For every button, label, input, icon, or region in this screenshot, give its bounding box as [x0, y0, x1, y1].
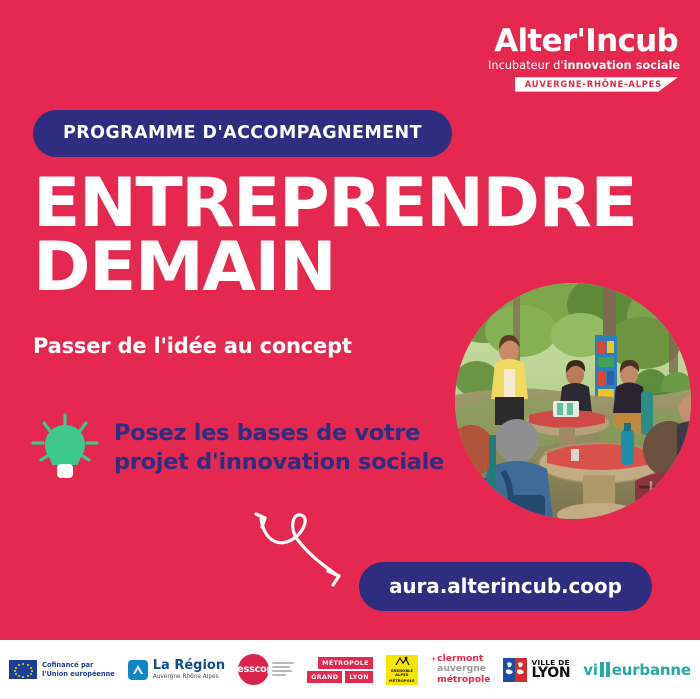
villeurbanne-part-2: eurbanne: [612, 661, 691, 679]
page-subtitle: Passer de l'idée au concept: [33, 334, 352, 358]
eu-label-line-1: Cofinancé par: [42, 661, 115, 669]
lyon-shield-icon: [503, 658, 527, 682]
eu-label: Cofinancé par l'Union européenne: [42, 661, 115, 678]
lyon-label: VILLE DE LYON: [531, 659, 570, 680]
clermont-line-3: métropole: [437, 675, 490, 685]
lightbulb-icon: [30, 412, 100, 484]
lyon-line-2: LYON: [531, 666, 570, 680]
grenoble-mark-icon: [394, 656, 410, 668]
highlight-block: Posez les bases de votre projet d'innova…: [30, 412, 444, 484]
metropole-line-1: MÉTROPOLE: [318, 657, 373, 669]
metropole-lyon-label: MÉTROPOLE GRAND LYON: [307, 657, 373, 683]
website-url-label: aura.alterincub.coop: [389, 574, 622, 598]
grenoble-line-2: MÉTROPOLE: [389, 679, 415, 683]
region-triangle-icon: [131, 663, 145, 677]
metropole-line-2: GRAND: [307, 671, 342, 683]
logo-grenoble-alpes-metropole: GRENOBLE ALPES MÉTROPOLE: [386, 655, 418, 685]
grenoble-line-1: GRENOBLE ALPES: [386, 669, 418, 677]
clermont-label: clermont auvergne métropole: [437, 654, 490, 685]
metropole-line-3: LYON: [345, 671, 372, 683]
brand-tagline-plain: Incubateur d': [488, 59, 564, 72]
region-label: La Région Auvergne Rhône Alpes: [153, 659, 225, 680]
programme-badge-label: PROGRAMME D'ACCOMPAGNEMENT: [63, 123, 422, 143]
scop-title: lesscop: [234, 664, 273, 675]
curly-double-arrow-icon: [243, 503, 368, 593]
metropole-row: GRAND LYON: [307, 671, 373, 683]
headline-line-1: ENTREPRENDRE: [33, 172, 665, 236]
eu-flag-icon: [9, 660, 37, 679]
page-title: ENTREPRENDRE DEMAIN: [33, 172, 653, 300]
logo-clermont-auvergne-metropole: + clermont auvergne métropole: [431, 654, 491, 685]
highlight-text: Posez les bases de votre projet d'innova…: [114, 419, 444, 477]
brand-tagline-bold: innovation sociale: [564, 59, 681, 72]
logo-villeurbanne: vi eurbanne: [583, 661, 691, 679]
programme-badge: PROGRAMME D'ACCOMPAGNEMENT: [33, 110, 452, 157]
partner-logos-footer: Cofinancé par l'Union européenne La Régi…: [0, 640, 700, 699]
scop-detail-lines: [272, 662, 294, 678]
group-workshop-garden-photo: [455, 283, 691, 519]
brand-region-label: AUVERGNE-RHÔNE-ALPES: [515, 77, 678, 91]
clermont-plus-icon: +: [431, 654, 436, 664]
alter-incub-logo: Alter'Incub Incubateur d'innovation soci…: [488, 26, 678, 92]
logo-les-scop: lesscop: [238, 654, 294, 685]
poster-canvas: Alter'Incub Incubateur d'innovation soci…: [0, 0, 700, 699]
region-title: La Région: [153, 659, 225, 672]
highlight-line-2: projet d'innovation sociale: [114, 448, 444, 477]
website-url-button[interactable]: aura.alterincub.coop: [359, 562, 652, 611]
villeurbanne-part-1: vi: [583, 661, 598, 679]
grenoble-box-icon: GRENOBLE ALPES MÉTROPOLE: [386, 655, 418, 685]
photo-illustration: [455, 283, 691, 519]
scop-circle-icon: lesscop: [238, 654, 269, 685]
logo-la-region: La Région Auvergne Rhône Alpes: [128, 659, 225, 680]
villeurbanne-bars-icon: [600, 662, 610, 677]
eu-label-line-2: l'Union européenne: [42, 670, 115, 678]
logo-european-union: Cofinancé par l'Union européenne: [9, 660, 115, 679]
brand-tagline: Incubateur d'innovation sociale: [488, 60, 678, 71]
region-subtitle: Auvergne Rhône Alpes: [153, 674, 225, 680]
region-mark-icon: [128, 660, 148, 680]
highlight-line-1: Posez les bases de votre: [114, 419, 444, 448]
brand-name: Alter'Incub: [488, 26, 678, 57]
logo-ville-de-lyon: VILLE DE LYON: [503, 658, 570, 682]
logo-metropole-grand-lyon: MÉTROPOLE GRAND LYON: [307, 657, 373, 683]
